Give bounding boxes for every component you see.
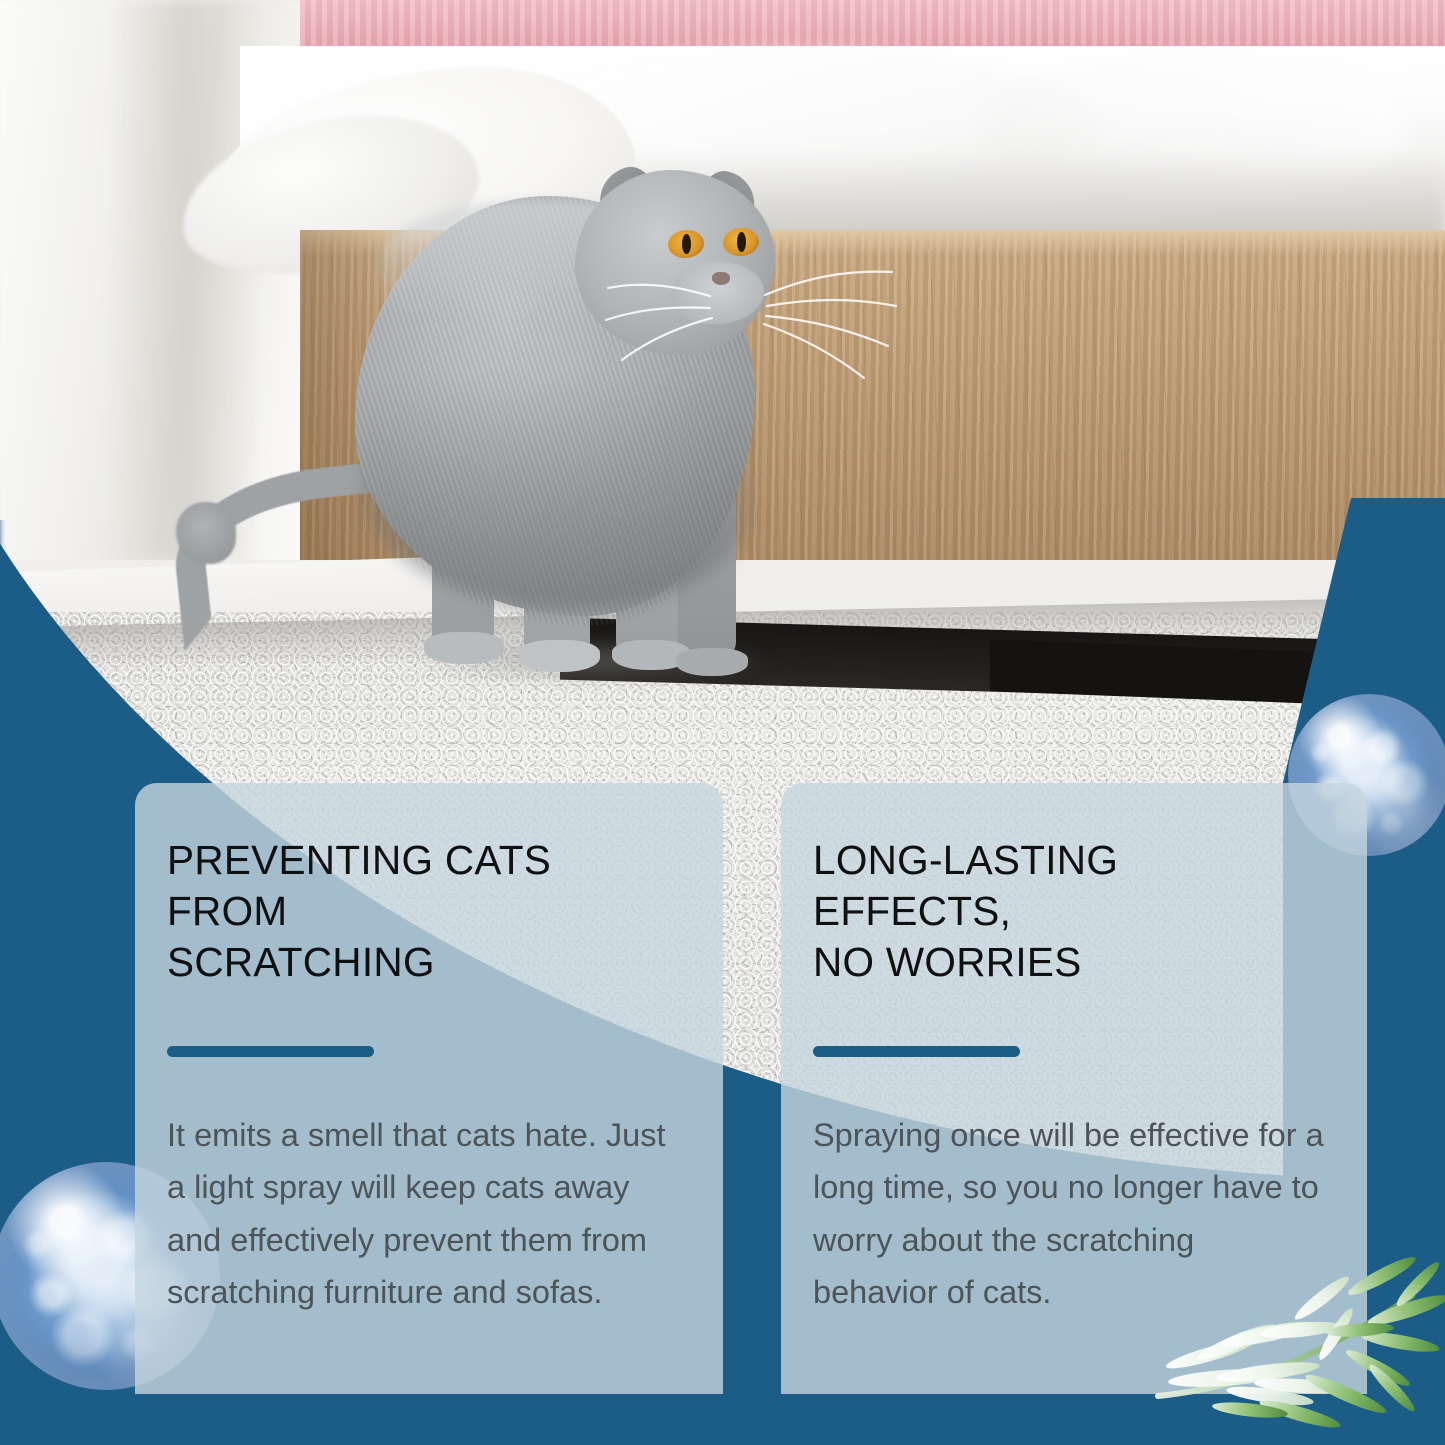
accent-bar <box>167 1046 374 1057</box>
cat-whiskers <box>600 250 900 410</box>
cat-paw <box>676 648 748 676</box>
cat-paw <box>424 632 504 664</box>
cat-tail-tip <box>176 502 236 564</box>
feature-card-preventing-scratching: PREVENTING CATS FROM SCRATCHING It emits… <box>135 783 723 1394</box>
accent-bar <box>813 1046 1020 1057</box>
feature-card-title: LONG-LASTING EFFECTS, NO WORRIES <box>813 835 1327 988</box>
curtain-fold <box>110 0 260 560</box>
cat-pupil <box>737 232 746 252</box>
feature-card-title: PREVENTING CATS FROM SCRATCHING <box>167 835 683 988</box>
feature-card-body: It emits a smell that cats hate. Just a … <box>167 1109 683 1318</box>
rosemary-sprig-icon <box>1150 1238 1445 1445</box>
cat-paw <box>518 640 600 672</box>
infographic-page: PREVENTING CATS FROM SCRATCHING It emits… <box>0 0 1445 1445</box>
